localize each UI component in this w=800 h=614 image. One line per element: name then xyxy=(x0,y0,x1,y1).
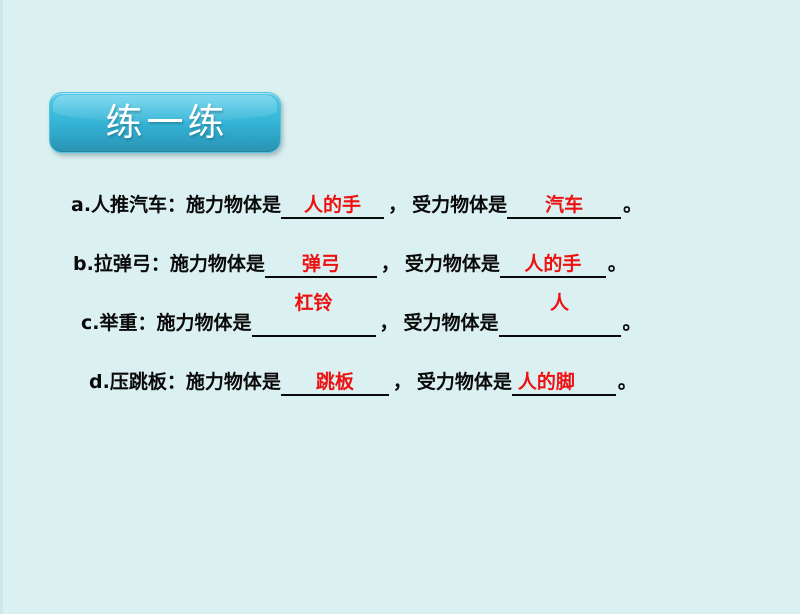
question-b-separator: ， xyxy=(377,255,405,274)
question-a-stem-2: 受力物体是 xyxy=(412,196,507,215)
question-b-stem-1: 拉弹弓：施力物体是 xyxy=(94,255,265,274)
title-button-label: 练一练 xyxy=(102,104,229,141)
question-d-stem-1: 压跳板：施力物体是 xyxy=(110,373,281,392)
question-c-answer-2: 人 xyxy=(499,294,621,313)
question-a-blank-1[interactable]: 人的手 xyxy=(281,196,384,219)
question-a-terminator: 。 xyxy=(621,196,642,215)
question-b-blank-1[interactable]: 弹弓 xyxy=(265,255,377,278)
question-a-blank-2[interactable]: 汽车 xyxy=(507,196,621,219)
question-b-stem-2: 受力物体是 xyxy=(405,255,500,274)
question-item-c: c.举重：施力物体是杠铃 ，受力物体是人 。 xyxy=(81,314,769,337)
question-a-stem-1: 人推汽车：施力物体是 xyxy=(91,196,281,215)
question-c-terminator: 。 xyxy=(621,314,642,333)
question-d-separator: ， xyxy=(389,373,417,392)
question-list: a.人推汽车：施力物体是人的手，受力物体是汽车。 b.拉弹弓：施力物体是弹弓，受… xyxy=(69,196,769,396)
question-d-stem-2: 受力物体是 xyxy=(417,373,512,392)
question-c-blank-1[interactable]: 杠铃 xyxy=(252,314,376,337)
question-b-marker: b. xyxy=(73,255,94,274)
question-b-terminator: 。 xyxy=(606,255,627,274)
question-d-terminator: 。 xyxy=(616,373,637,392)
question-c-stem-1: 举重：施力物体是 xyxy=(99,314,251,333)
title-button[interactable]: 练一练 xyxy=(49,92,281,153)
question-a-separator: ， xyxy=(384,196,412,215)
question-d-marker: d. xyxy=(89,373,110,392)
question-c-separator: ， xyxy=(376,314,404,333)
question-c-stem-2: 受力物体是 xyxy=(404,314,499,333)
question-c-marker: c. xyxy=(81,314,99,333)
question-item-d: d.压跳板：施力物体是跳板，受力物体是人的脚。 xyxy=(89,373,769,396)
question-item-a: a.人推汽车：施力物体是人的手，受力物体是汽车。 xyxy=(71,196,769,219)
question-d-blank-2[interactable]: 人的脚 xyxy=(512,373,616,396)
question-c-blank-2[interactable]: 人 xyxy=(499,314,621,337)
question-a-marker: a. xyxy=(71,196,91,215)
question-b-blank-2[interactable]: 人的手 xyxy=(500,255,606,278)
question-item-b: b.拉弹弓：施力物体是弹弓，受力物体是人的手。 xyxy=(73,255,769,278)
question-c-answer-1: 杠铃 xyxy=(252,294,376,313)
question-d-blank-1[interactable]: 跳板 xyxy=(281,373,389,396)
slide-canvas: 练一练 a.人推汽车：施力物体是人的手，受力物体是汽车。 b.拉弹弓：施力物体是… xyxy=(0,0,800,614)
